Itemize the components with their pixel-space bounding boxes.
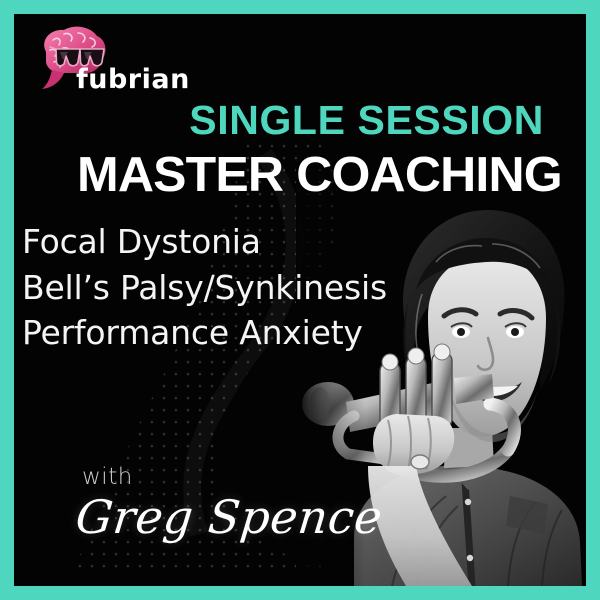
list-item: Bell’s Palsy/Synkinesis — [22, 265, 462, 311]
with-label: with — [76, 466, 406, 489]
poster-canvas: fubrian — [14, 14, 586, 586]
brand-wordmark: fubrian — [76, 66, 190, 93]
kicker-text: SINGLE SESSION — [14, 100, 572, 141]
headline-block: SINGLE SESSION MASTER COACHING — [14, 100, 572, 200]
list-item: Performance Anxiety — [22, 310, 462, 356]
conditions-list: Focal Dystonia Bell’s Palsy/Synkinesis P… — [22, 219, 462, 356]
presenter-byline: with Greg Spence — [76, 466, 406, 541]
presenter-name-signature: Greg Spence — [73, 493, 408, 541]
brand-logo[interactable]: fubrian — [26, 22, 201, 104]
page-title: MASTER COACHING — [14, 151, 572, 200]
list-item: Focal Dystonia — [22, 219, 462, 265]
poster-card: fubrian — [0, 0, 600, 600]
